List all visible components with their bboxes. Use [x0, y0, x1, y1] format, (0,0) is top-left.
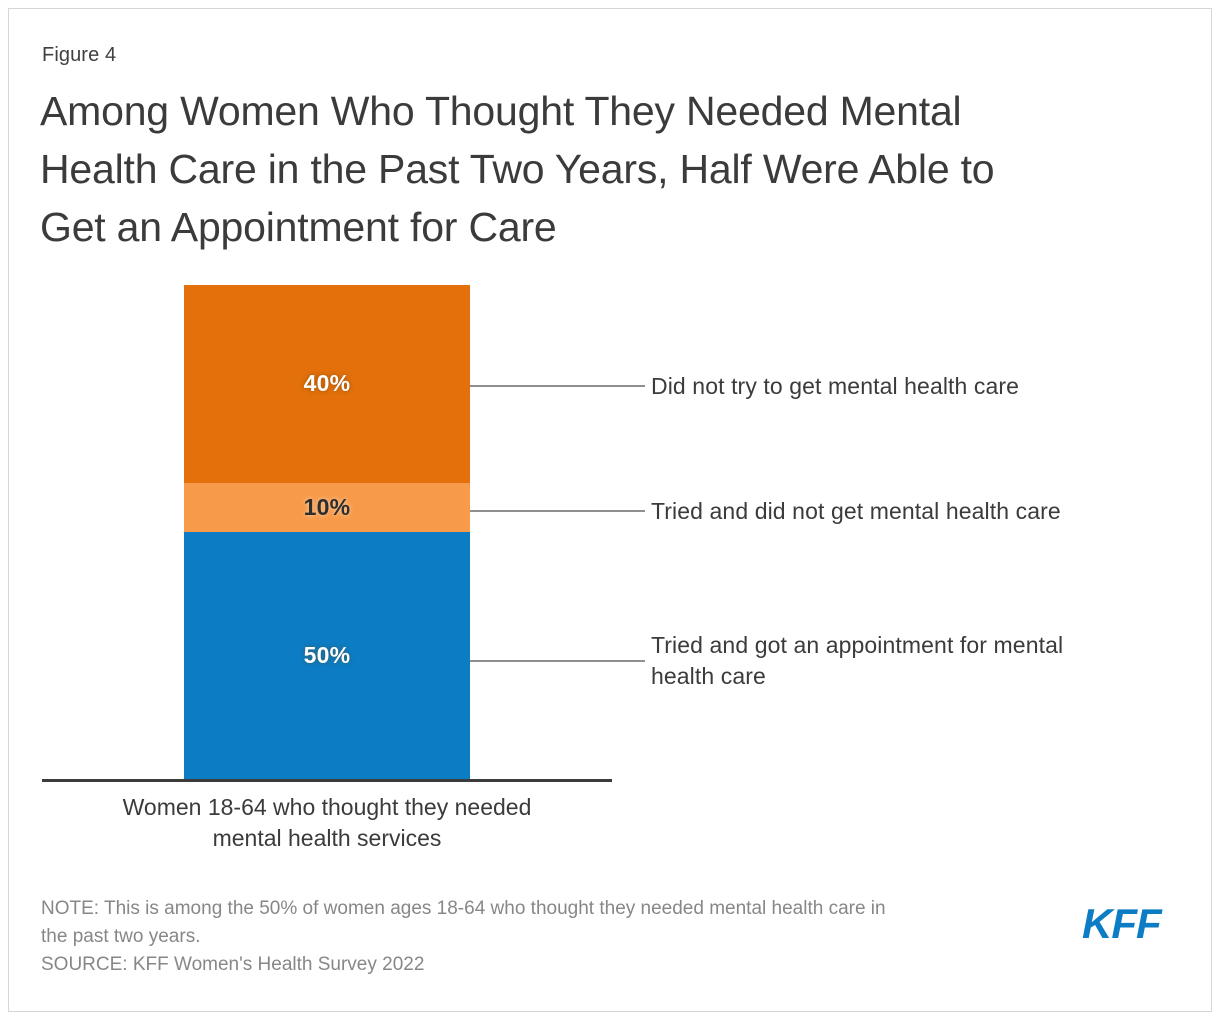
bar-segment-label-did-not-try: 40%: [304, 370, 351, 397]
leader-line-did-not-try: [470, 385, 645, 387]
bar-segment-did-not-try[interactable]: 40%: [184, 285, 470, 483]
note-text: NOTE: This is among the 50% of women age…: [41, 895, 1041, 951]
bar-segment-label-tried-got-appointment: 50%: [304, 642, 351, 669]
bar-segment-tried-did-not-get[interactable]: 10%: [184, 483, 470, 532]
kff-logo: KFF: [1082, 903, 1161, 945]
x-axis-caption-line-1: Women 18-64 who thought they needed: [42, 792, 612, 823]
x-axis-caption-line-2: mental health services: [42, 823, 612, 854]
x-axis-line: [42, 779, 612, 782]
note-line-2: the past two years.: [41, 923, 1041, 951]
callout-tried-got-appointment: Tried and got an appointment for mental …: [651, 630, 1151, 692]
bar-segment-label-tried-did-not-get: 10%: [304, 494, 351, 521]
leader-line-tried-got-appointment: [470, 660, 645, 662]
stacked-bar: 40% 10% 50%: [184, 285, 470, 779]
callout-did-not-try: Did not try to get mental health care: [651, 371, 1171, 402]
leader-line-tried-did-not-get: [470, 510, 645, 512]
callout-tried-got-appointment-line-2: health care: [651, 661, 1151, 692]
callout-did-not-try-line-1: Did not try to get mental health care: [651, 373, 1019, 399]
callout-tried-did-not-get: Tried and did not get mental health care: [651, 496, 1171, 527]
plot-area: 40% 10% 50% Did not try to get mental he…: [0, 0, 1220, 1020]
callout-tried-got-appointment-line-1: Tried and got an appointment for mental: [651, 630, 1151, 661]
callout-tried-did-not-get-line-1: Tried and did not get mental health care: [651, 498, 1061, 524]
source-text: SOURCE: KFF Women's Health Survey 2022: [41, 951, 424, 979]
chart-page: Figure 4 Among Women Who Thought They Ne…: [0, 0, 1220, 1020]
note-line-1: NOTE: This is among the 50% of women age…: [41, 895, 1041, 923]
x-axis-caption: Women 18-64 who thought they needed ment…: [42, 792, 612, 854]
bar-segment-tried-got-appointment[interactable]: 50%: [184, 532, 470, 779]
